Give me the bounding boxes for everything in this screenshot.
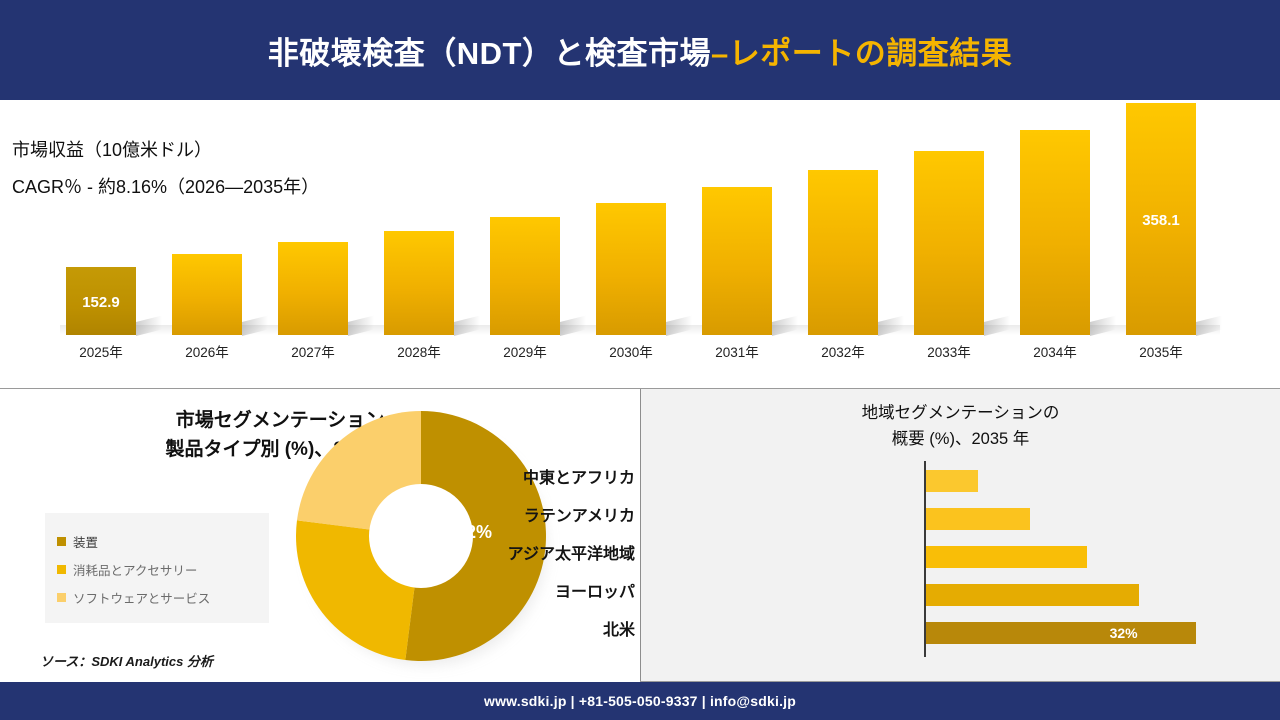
legend-item: 消耗品とアクセサリー xyxy=(57,560,257,579)
region-title-line2: 概要 (%)、2035 年 xyxy=(641,427,1280,453)
bar-shadow xyxy=(242,316,268,336)
bar-plot-area: 152.92025年2026年2027年2028年2029年2030年2031年… xyxy=(0,103,1280,383)
legend-label: ソフトウェアとサービス xyxy=(73,588,210,607)
region-title: 地域セグメンテーションの 概要 (%)、2035 年 xyxy=(641,401,1280,452)
bar-2028年 xyxy=(384,231,454,335)
bar-2034年 xyxy=(1020,130,1090,335)
bar-2026年 xyxy=(172,254,242,335)
bar-category-label: 2025年 xyxy=(66,341,136,361)
legend-swatch-icon xyxy=(57,537,66,546)
bar-shadow xyxy=(1196,316,1222,336)
bar-shadow xyxy=(666,316,692,336)
revenue-bar-chart-panel: 市場収益（10億米ドル） CAGR％ - 約8.16%（2026―2035年） … xyxy=(0,103,1280,383)
region-label: 北米 xyxy=(375,613,635,649)
region-row: アジア太平洋地域 xyxy=(641,537,1280,573)
region-title-line1: 地域セグメンテーションの xyxy=(641,401,1280,427)
region-row: ヨーロッパ xyxy=(641,575,1280,611)
region-label: ラテンアメリカ xyxy=(375,499,635,535)
region-label: ヨーロッパ xyxy=(375,575,635,611)
region-row: ラテンアメリカ xyxy=(641,499,1280,535)
region-bar xyxy=(926,508,1030,530)
bar-value-label: 152.9 xyxy=(66,294,136,311)
bar-2031年 xyxy=(702,187,772,335)
footer-banner: www.sdki.jp | +81-505-050-9337 | info@sd… xyxy=(0,682,1280,720)
legend-swatch-icon xyxy=(57,565,66,574)
legend-swatch-icon xyxy=(57,593,66,602)
legend-label: 装置 xyxy=(73,532,98,551)
infographic-root: 非破壊検査（NDT）と検査市場–レポートの調査結果 市場収益（10億米ドル） C… xyxy=(0,0,1280,720)
bar-shadow xyxy=(772,316,798,336)
bar-2033年 xyxy=(914,151,984,335)
bar-category-label: 2026年 xyxy=(172,341,242,361)
regional-segmentation-panel: 地域セグメンテーションの 概要 (%)、2035 年 中東とアフリカラテンアメリ… xyxy=(641,389,1280,681)
bar-category-label: 2030年 xyxy=(596,341,666,361)
bar-category-label: 2031年 xyxy=(702,341,772,361)
bar-category-label: 2029年 xyxy=(490,341,560,361)
region-row: 中東とアフリカ xyxy=(641,461,1280,497)
bar-shadow xyxy=(878,316,904,336)
page-title-accent: –レポートの調査結果 xyxy=(711,36,1012,71)
legend-item: 装置 xyxy=(57,532,257,551)
bar-2029年 xyxy=(490,217,560,335)
bar-category-label: 2034年 xyxy=(1020,341,1090,361)
bar-shadow xyxy=(454,316,480,336)
bar-2027年 xyxy=(278,242,348,335)
bar-shadow xyxy=(984,316,1010,336)
region-bar xyxy=(926,622,1196,644)
footer-contact-text: www.sdki.jp | +81-505-050-9337 | info@sd… xyxy=(484,693,796,709)
source-note: ソース：SDKI Analytics 分析 xyxy=(40,651,213,670)
bar-category-label: 2035年 xyxy=(1126,341,1196,361)
legend-label: 消耗品とアクセサリー xyxy=(73,560,197,579)
legend-item: ソフトウェアとサービス xyxy=(57,588,257,607)
region-bar xyxy=(926,470,978,492)
bar-category-label: 2033年 xyxy=(914,341,984,361)
region-value-label: 32% xyxy=(1110,622,1138,644)
region-bar xyxy=(926,546,1087,568)
bar-category-label: 2028年 xyxy=(384,341,454,361)
region-label: 中東とアフリカ xyxy=(375,461,635,497)
page-title-main: 非破壊検査（NDT）と検査市場 xyxy=(268,36,711,71)
region-bar xyxy=(926,584,1139,606)
bar-2032年 xyxy=(808,170,878,335)
bar-2030年 xyxy=(596,203,666,335)
bar-shadow xyxy=(560,316,586,336)
region-plot-area: 中東とアフリカラテンアメリカアジア太平洋地域ヨーロッパ北米32% xyxy=(641,461,1280,661)
page-title: 非破壊検査（NDT）と検査市場–レポートの調査結果 xyxy=(268,28,1012,73)
bar-value-label: 358.1 xyxy=(1126,212,1196,229)
header-banner: 非破壊検査（NDT）と検査市場–レポートの調査結果 xyxy=(0,0,1280,100)
bar-shadow xyxy=(136,316,162,336)
bar-shadow xyxy=(1090,316,1116,336)
region-row: 北米32% xyxy=(641,613,1280,649)
donut-legend: 装置消耗品とアクセサリーソフトウェアとサービス xyxy=(45,513,269,623)
bar-shadow xyxy=(348,316,374,336)
bar-category-label: 2027年 xyxy=(278,341,348,361)
region-label: アジア太平洋地域 xyxy=(375,537,635,573)
bar-category-label: 2032年 xyxy=(808,341,878,361)
